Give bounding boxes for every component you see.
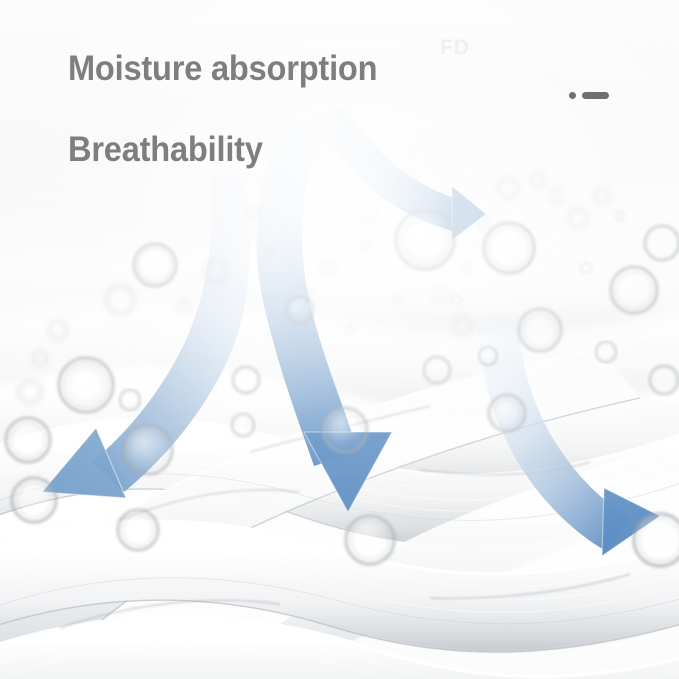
light-vignette [0,0,679,679]
corner-dot-icon [569,92,576,99]
headline-moisture-absorption: Moisture absorption [68,49,377,89]
watermark-text: FD [440,36,470,60]
feature-illustration: FD Moisture absorption Breathability [0,0,679,679]
headline-breathability: Breathability [68,130,263,170]
corner-dash-icon [582,92,609,99]
